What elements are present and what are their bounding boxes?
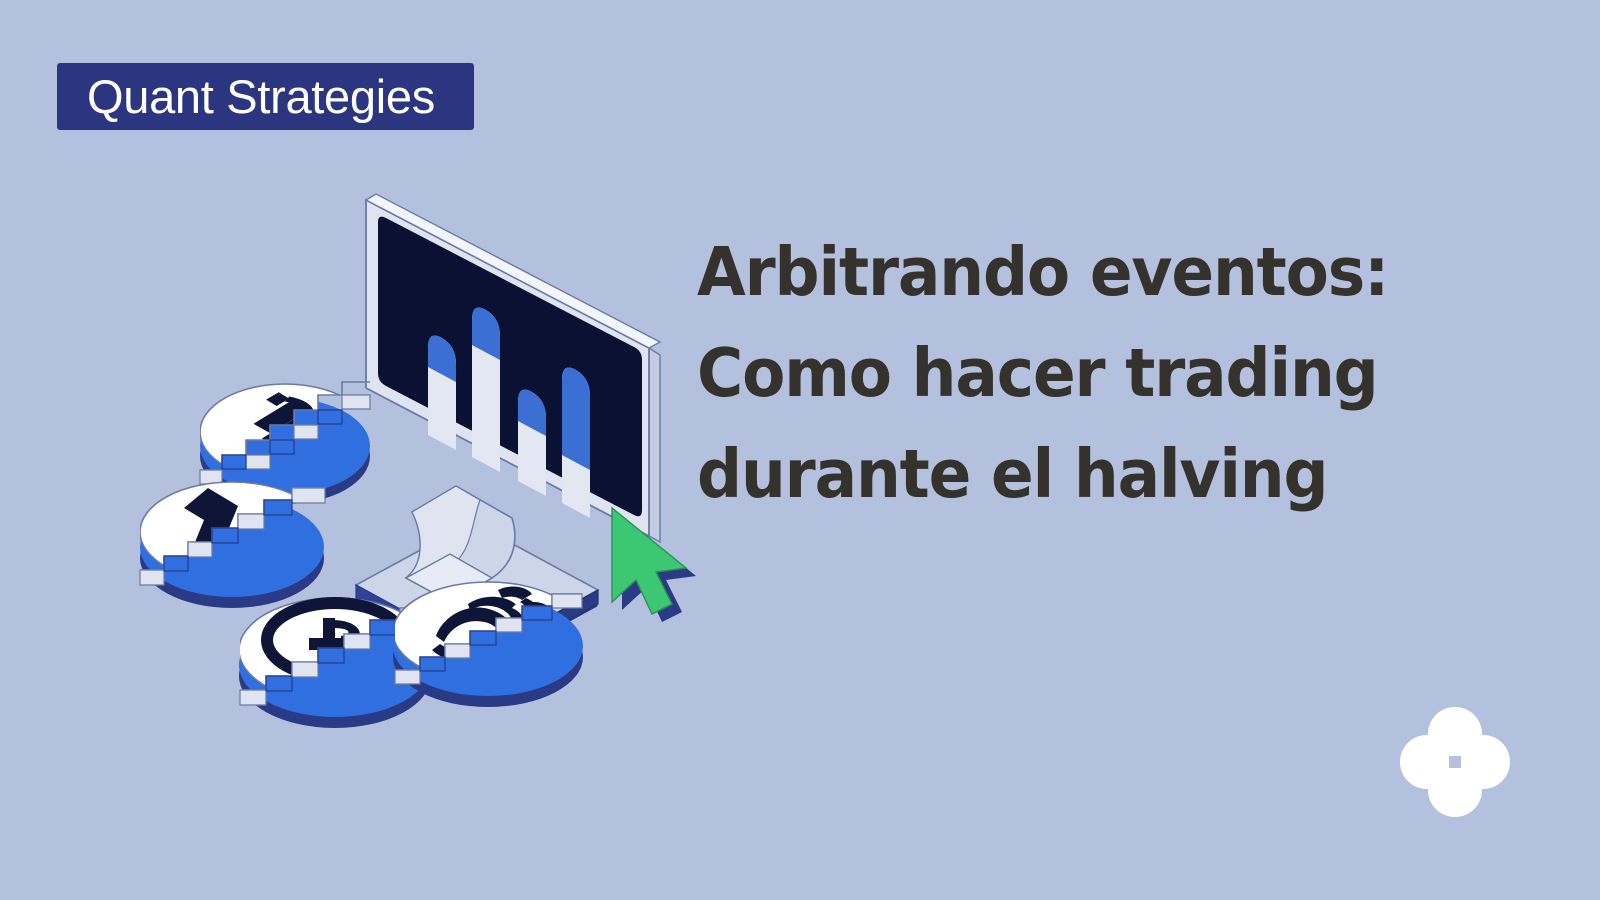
clover-center-square xyxy=(1449,756,1461,768)
clover-petal-left xyxy=(1400,735,1454,789)
headline-line-2: Como hacer trading xyxy=(697,323,1468,424)
clover-svg xyxy=(1400,707,1510,817)
headline-line-1: Arbitrando eventos: xyxy=(697,222,1468,323)
headline-line-3: durante el halving xyxy=(697,424,1468,525)
four-petal-clover-icon xyxy=(1400,707,1510,817)
clover-petal-right xyxy=(1456,735,1510,789)
monero-coin xyxy=(393,582,583,707)
page-title: Arbitrando eventos: Como hacer trading d… xyxy=(697,222,1517,525)
illustration-svg xyxy=(120,170,700,760)
chart-bar-2 xyxy=(472,308,500,472)
brand-badge[interactable]: Quant Strategies xyxy=(57,63,474,130)
chart-bar-1 xyxy=(428,336,456,450)
chart-bar-3 xyxy=(518,390,546,496)
desktop-monitor xyxy=(366,194,660,542)
poster-canvas: Quant Strategies Arbitrando eventos: Com… xyxy=(0,0,1600,900)
crypto-trading-illustration xyxy=(120,170,700,760)
brand-badge-label: Quant Strategies xyxy=(87,73,435,120)
chart-bar-4 xyxy=(562,368,590,518)
litecoin-coin xyxy=(140,482,325,608)
